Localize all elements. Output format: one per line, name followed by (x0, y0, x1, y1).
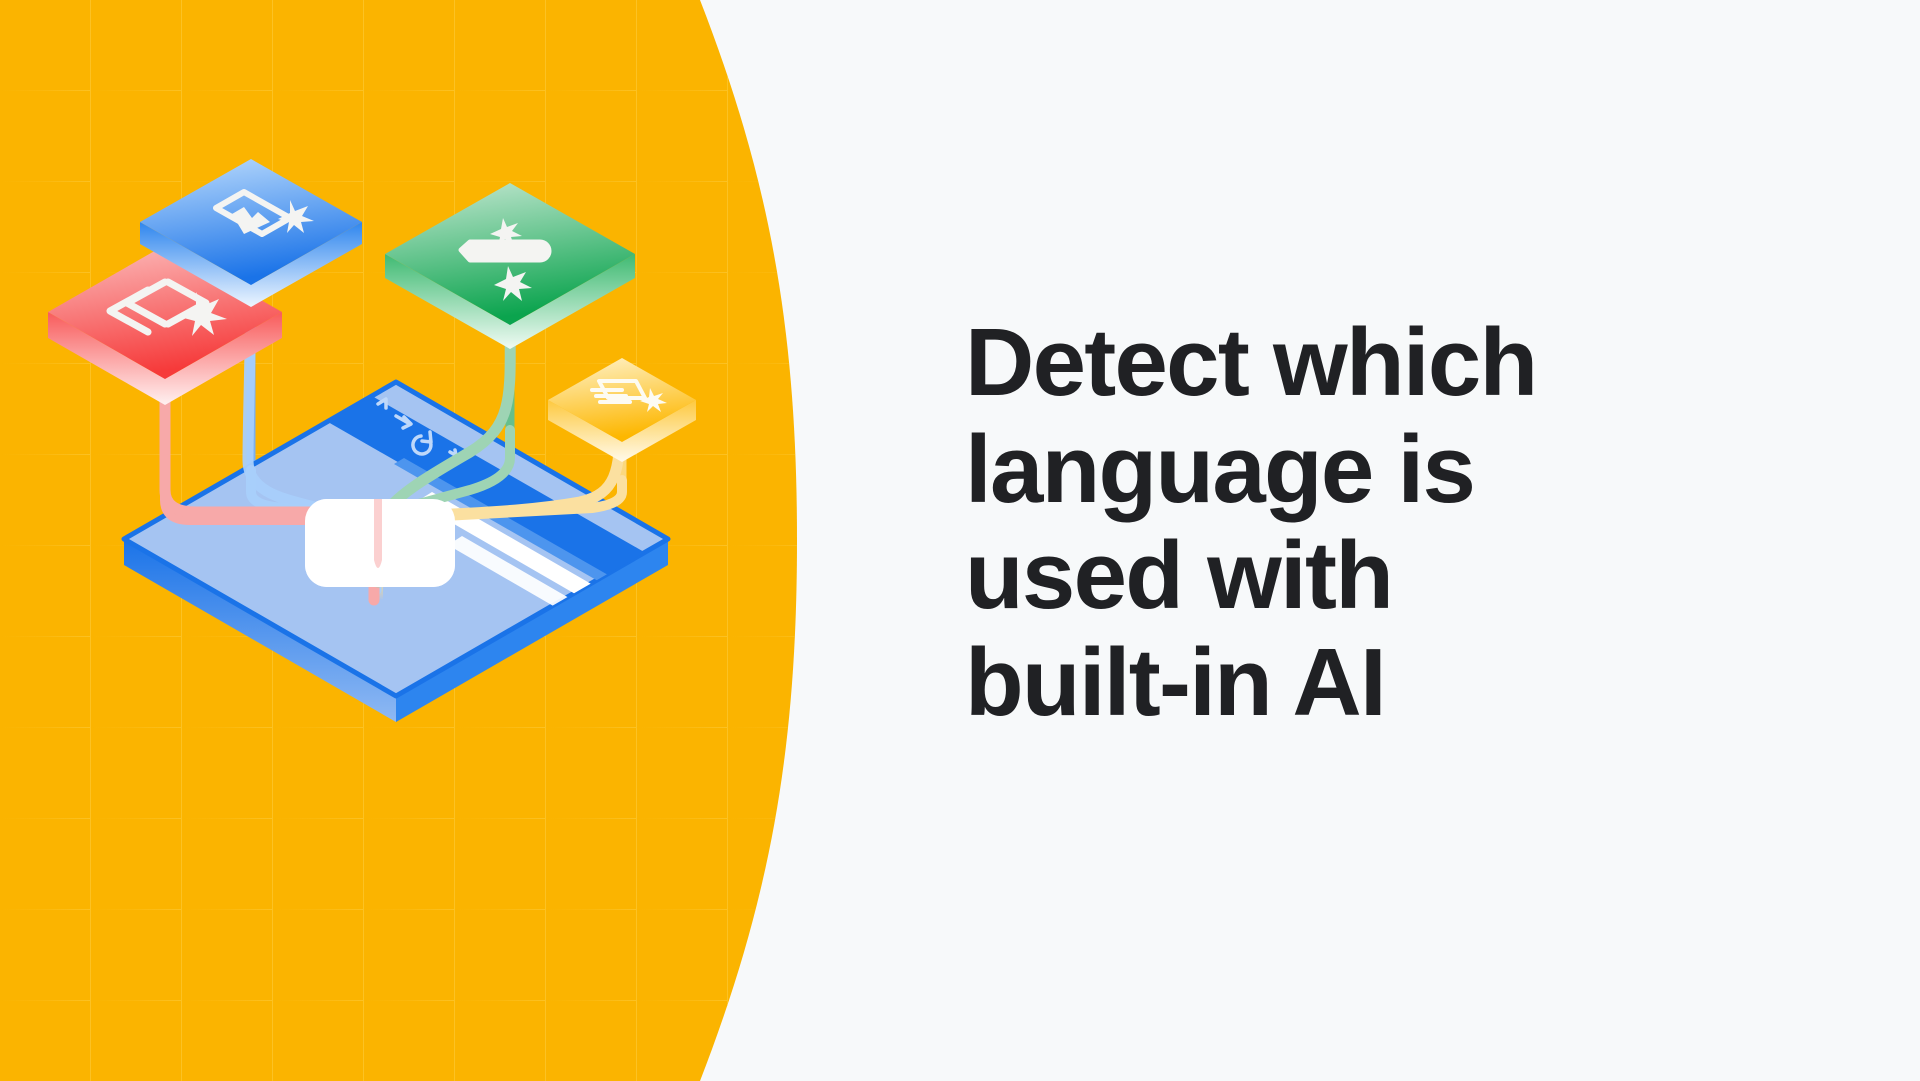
headline-line-2: language is (965, 417, 1785, 524)
headline-line-1: Detect which (965, 310, 1785, 417)
slide-canvas: Detect which language is used with built… (0, 0, 1920, 1081)
page-title: Detect which language is used with built… (965, 310, 1785, 736)
orange-shape (0, 0, 860, 1081)
headline-line-3: used with (965, 523, 1785, 630)
headline-line-4: built-in AI (965, 630, 1785, 737)
orange-background-panel (0, 0, 860, 1081)
